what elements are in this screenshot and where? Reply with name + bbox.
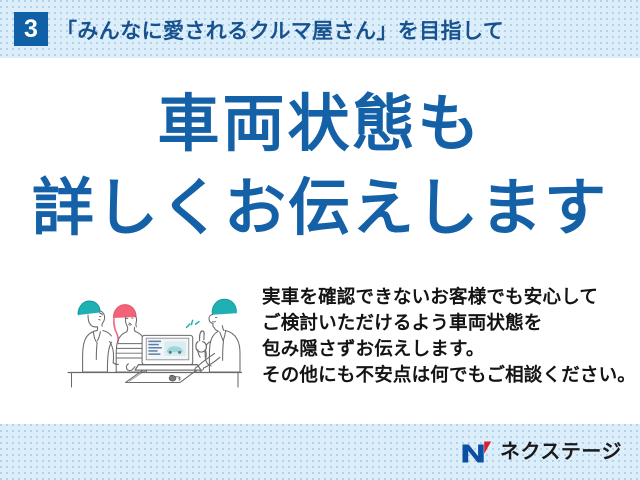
headline-line-1: 車両状態も: [0, 94, 640, 156]
promo-banner: 3 「みんなに愛されるクルマ屋さん」を目指して 車両状態も 詳しくお伝えします: [0, 0, 640, 480]
headline-line-2: 詳しくお伝えします: [0, 178, 640, 240]
body-copy-line-1: 実車を確認できないお客様でも安心して: [262, 284, 612, 310]
step-number-badge: 3: [14, 12, 48, 46]
body-copy-line-4: その他にも不安点は何でもご相談ください。: [262, 362, 612, 388]
body-copy-line-3: 包み隠さずお伝えします。: [262, 336, 612, 362]
consultation-illustration-svg: [62, 277, 247, 395]
brand-logo: ネクステージ: [461, 438, 622, 466]
headline: 車両状態も 詳しくお伝えします: [0, 94, 640, 240]
header-title: 「みんなに愛されるクルマ屋さん」を目指して: [56, 13, 504, 47]
body-copy: 実車を確認できないお客様でも安心して ご検討いただけるよう車両状態を 包み隠さず…: [262, 284, 612, 388]
consultation-illustration: [62, 277, 247, 395]
brand-wordmark: ネクステージ: [500, 442, 622, 462]
body-copy-line-2: ご検討いただけるよう車両状態を: [262, 310, 612, 336]
nextage-n-mark-icon: [461, 440, 493, 464]
